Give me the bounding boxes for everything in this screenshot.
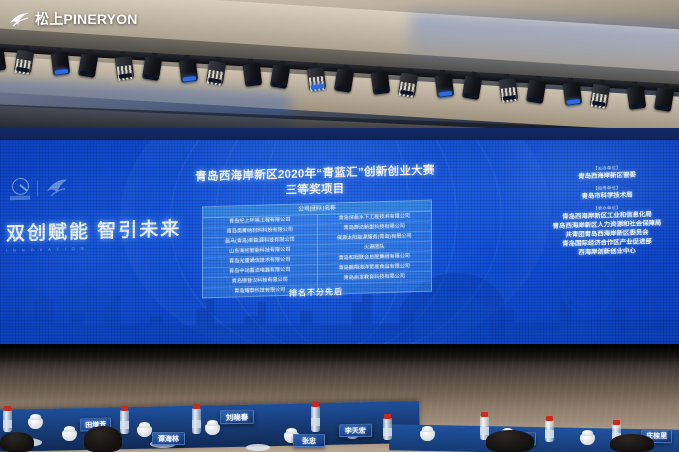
conference-stage-photo: 双创赋能 智引未来 I N N O V A T I O N 青岛西海岸新区202… — [0, 0, 679, 452]
watermark-logo: 松上PINERYON — [10, 9, 138, 29]
attendee-name-card: 谭海林 — [152, 432, 185, 445]
qinglanhui-logo-icon — [45, 177, 69, 200]
name-card-text: 刘晓春 — [226, 411, 249, 422]
water-bottle — [3, 410, 12, 432]
water-bottle — [383, 418, 392, 440]
stage-spotlight — [498, 73, 519, 105]
pineryon-swoosh-logo-icon — [10, 12, 30, 27]
stage-spotlight — [562, 77, 583, 109]
stage-spotlight — [178, 54, 199, 86]
stage-spotlight — [114, 51, 135, 83]
stage-spotlight — [434, 69, 455, 101]
water-bottle — [120, 410, 129, 434]
logo-divider — [37, 180, 38, 196]
attendee-head — [84, 426, 122, 452]
stage-spotlight — [50, 47, 71, 79]
led-stage-screen: 双创赋能 智引未来 I N N O V A T I O N 青岛西海岸新区202… — [0, 140, 679, 348]
watermark-brand-text: 松上PINERYON — [35, 9, 138, 29]
stage-spotlight — [306, 62, 327, 94]
table-plate — [246, 444, 270, 451]
stage-spotlight — [626, 81, 647, 113]
name-card-text: 谭海林 — [158, 434, 179, 444]
organizer-credits: 【主办单位】青岛西海岸新区管委【指导单位】青岛市科学技术局 【承办单位】 青岛西… — [541, 159, 673, 259]
attendee-head — [0, 432, 34, 452]
name-card-text: 李天宏 — [344, 425, 365, 435]
table-column-right: 青岛深蓝水下工程技术有限公司青岛群达新型科技有限公司保源太阳能源服务(青岛)有限… — [318, 212, 432, 294]
attendee-name-card: 刘晓春 — [220, 410, 254, 425]
stage-spotlight — [370, 66, 391, 98]
stage-spotlight — [242, 58, 263, 90]
table-column-left: 青岛纪上环境工程有限公司青岛奥菁纳材料科技有限公司蓝马(青岛)新能源科技有限公司… — [203, 215, 318, 297]
slogan-chinese: 双创赋能 智引未来 — [6, 214, 181, 246]
attendee-name-card: 李天宏 — [339, 424, 372, 438]
qingdao-emblem-logo-icon — [10, 178, 30, 201]
floor-shadow — [0, 344, 679, 366]
attendee-head — [610, 434, 654, 452]
water-bottle — [192, 408, 201, 434]
attendee-head — [486, 430, 534, 452]
attendee-name-card: 张忠 — [293, 434, 324, 447]
screen-slogan: 双创赋能 智引未来 I N N O V A T I O N — [6, 214, 181, 253]
screen-logo-group — [10, 177, 69, 201]
water-bottle — [545, 420, 554, 442]
water-bottle — [311, 406, 320, 432]
name-card-text: 张忠 — [302, 436, 316, 446]
